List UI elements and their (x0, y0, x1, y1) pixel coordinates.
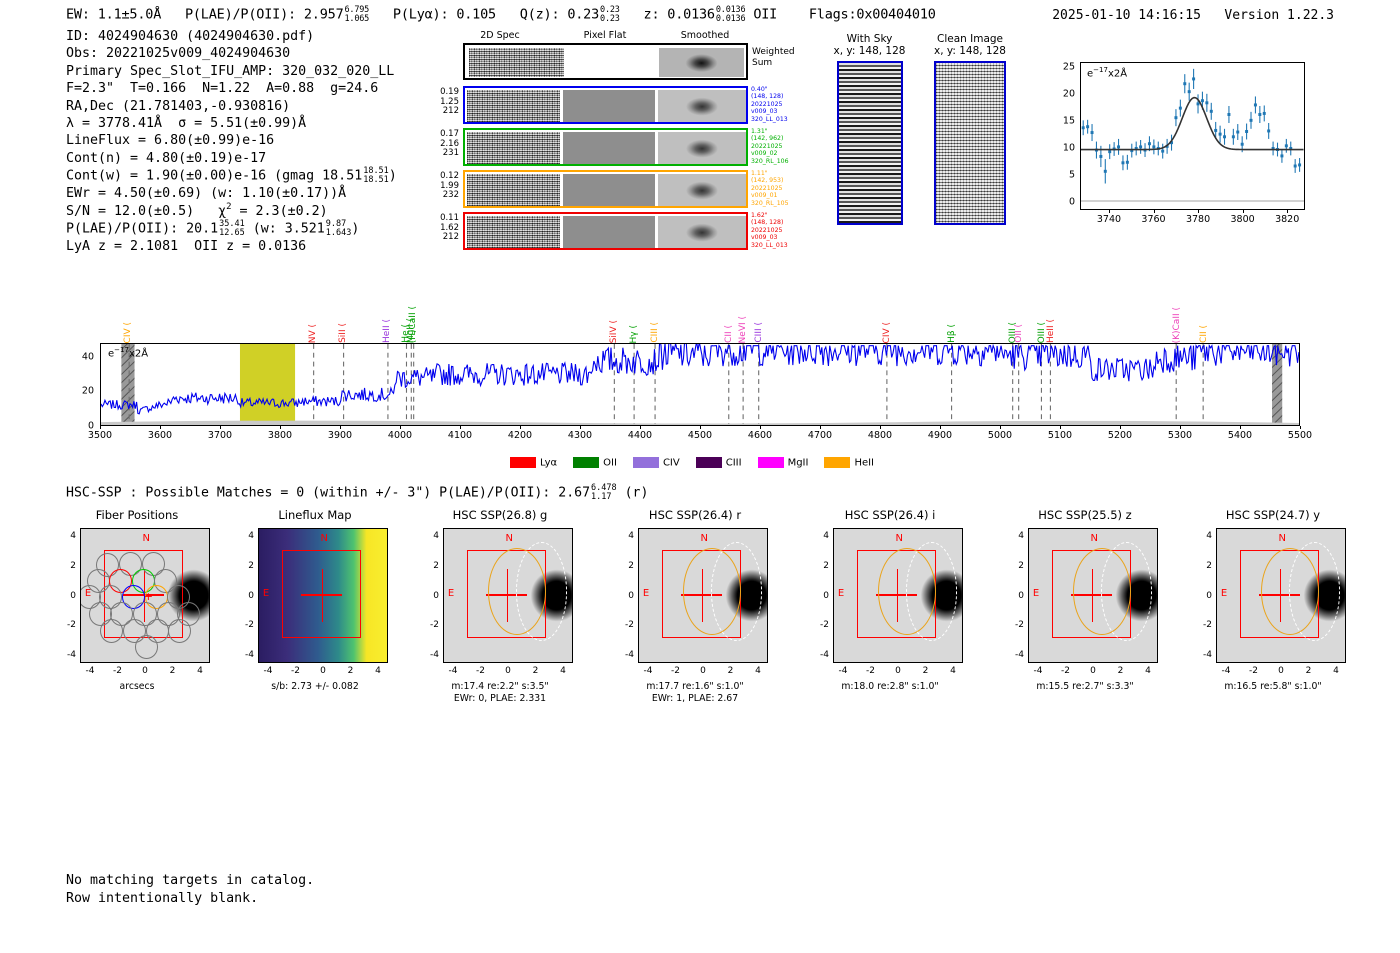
spec2d-fiber-row (463, 128, 748, 166)
east-label: E (448, 588, 454, 599)
spectrum-x-tickmark (940, 426, 941, 429)
header-z-species: OII (753, 7, 777, 23)
fiber-metric: 232 (425, 191, 459, 201)
info-cont-n: Cont(n) = 4.80(±0.19)e-17 (66, 150, 397, 167)
cutout-x-tick: -4 (86, 666, 95, 676)
north-label: N (700, 533, 707, 544)
cutout-x-tick: -4 (644, 666, 653, 676)
cutout-caption: m:17.7 re:1.6" s:1.0"EWr: 1, PLAE: 2.67 (620, 681, 770, 705)
version-label: Version 1.22.3 (1224, 8, 1334, 23)
info-id: ID: 4024904630 (4024904630.pdf) (66, 28, 397, 45)
spectrum-x-tick: 5000 (988, 430, 1012, 441)
emission-line-label: (H)CaII ( (408, 306, 418, 343)
cutout-y-tick: -2 (238, 620, 254, 630)
info-lineflux: LineFlux = 6.80(±0.99)e-16 (66, 132, 397, 149)
cutout-y-tick: -2 (1196, 620, 1212, 630)
cutout-caption-line1: m:17.7 re:1.6" s:1.0" (620, 681, 770, 693)
cutout-y-tick: 2 (60, 561, 76, 571)
spectrum-x-tick: 5400 (1228, 430, 1252, 441)
spectrum-x-tickmark (280, 426, 281, 429)
spectrum-x-tick: 4300 (568, 430, 592, 441)
cutout-title: HSC SSP(26.8) g (425, 508, 575, 522)
spectrum-x-tick: 4400 (628, 430, 652, 441)
cutout-y-tick: 2 (618, 561, 634, 571)
cutout-x-tick: -2 (866, 666, 875, 676)
clean-image-xy: x, y: 148, 128 (920, 45, 1020, 57)
header-qz: Q(z): 0.23 (520, 7, 599, 23)
east-label: E (263, 588, 269, 599)
legend-item: CIV (633, 457, 680, 469)
footer-notes: No matching targets in catalog. Row inte… (66, 872, 314, 907)
fiber-meta-line: (148, 128) (751, 93, 813, 100)
north-label: N (895, 533, 902, 544)
cutout-y-tick: -2 (423, 620, 439, 630)
info-sn-chi2: S/N = 12.0(±0.5) χ2 = 2.3(±0.2) (66, 203, 397, 220)
cutout-panel: HSC SSP(26.8) gNE420-2-4-4-2024m:17.4 re… (425, 508, 575, 733)
cutout-image-area: NE (1216, 528, 1346, 663)
spectrum-legend: LyαOIICIVCIIIMgIIHeII (100, 450, 1300, 469)
north-label: N (505, 533, 512, 544)
spectrum-x-tick: 5500 (1288, 430, 1312, 441)
fiber-meta-line: v009_03 (751, 234, 813, 241)
spec2d-fiber-rows: 0.191.252120.40"(148, 128)20221025v009_0… (455, 86, 815, 256)
cutout-x-tick: -2 (291, 666, 300, 676)
spectrum-x-tick: 4800 (868, 430, 892, 441)
spectrum-x-tick: 3600 (148, 430, 172, 441)
header-plya: P(Lyα): 0.105 (393, 7, 496, 23)
fiber-row-meta: 1.62"(148, 128)20221025v009_03320_LL_013 (751, 212, 813, 249)
emission-line-label: SiII ( (338, 323, 348, 343)
cutout-y-tick: 4 (60, 531, 76, 541)
emission-line-fit-chart: e−17x2Å 374037603780380038200510152025 (1035, 58, 1310, 243)
emission-line-label: SiIV ( (609, 320, 619, 343)
fit-x-tick: 3740 (1097, 214, 1121, 225)
cutout-y-tick: -4 (1196, 650, 1212, 660)
cutout-y-tick: 0 (1008, 591, 1024, 601)
fiber-2dspec-image (467, 132, 560, 164)
cutout-caption-line1: arcsecs (62, 681, 212, 693)
fit-y-tick: 15 (1057, 116, 1075, 127)
cutout-caption-line1: m:18.0 re:2.8" s:1.0" (815, 681, 965, 693)
clean-image-image (934, 61, 1006, 225)
fiber-meta-line: 320_RL_105 (751, 200, 813, 207)
hsc-summary-line: HSC-SSP : Possible Matches = 0 (within +… (66, 484, 648, 501)
fiber-pixelflat-image (563, 132, 655, 164)
cutout-image-area: NE (833, 528, 963, 663)
north-label: N (1090, 533, 1097, 544)
hsc-summary-text: HSC-SSP : Possible Matches = 0 (within +… (66, 486, 590, 501)
spectrum-x-tick: 3700 (208, 430, 232, 441)
spectrum-units-label: e−17x2Å (108, 346, 148, 359)
spectrum-x-tickmark (1120, 426, 1121, 429)
legend-swatch (573, 457, 599, 468)
cutout-image-area: NE (443, 528, 573, 663)
spectrum-x-tickmark (760, 426, 761, 429)
cutout-y-tick: 0 (423, 591, 439, 601)
footer-line-1: No matching targets in catalog. (66, 872, 314, 890)
cutout-x-tick: 2 (923, 666, 929, 676)
spectrum-x-tick: 4000 (388, 430, 412, 441)
header-plae-poii-range: 6.7951.065 (345, 6, 370, 23)
fiber-row-meta: 1.11"(142, 953)20221025v009_01320_RL_105 (751, 170, 813, 207)
header-ew: EW: 1.1±5.0Å (66, 7, 161, 23)
legend-swatch (758, 457, 784, 468)
header-plae-poii-value: 2.957 (304, 7, 344, 23)
fit-x-tickmark (1287, 210, 1288, 213)
legend-label: MgII (788, 457, 809, 468)
emission-line-label: HeII ( (1046, 319, 1056, 343)
legend-item: Lyα (510, 457, 557, 469)
header-timestamp-version: 2025-01-10 14:16:15 Version 1.22.3 (1052, 8, 1334, 23)
north-label: N (320, 533, 327, 544)
info-radec: RA,Dec (21.781403,-0.930816) (66, 98, 397, 115)
timestamp: 2025-01-10 14:16:15 (1052, 8, 1201, 23)
fiber-pixelflat-image (563, 216, 655, 248)
legend-swatch (824, 457, 850, 468)
spec2d-fiber-row (463, 212, 748, 250)
spec2d-col-title-pixelflat: Pixel Flat (560, 30, 650, 41)
emission-line-label: CIV ( (123, 322, 133, 343)
emission-line-label: CIII ( (754, 322, 764, 343)
fit-y-tick: 5 (1057, 170, 1075, 181)
spectrum-y-tick: 40 (74, 351, 94, 362)
weighted-sum-label: Weighted Sum (752, 47, 795, 69)
cutout-panel: HSC SSP(26.4) iNE420-2-4-4-2024m:18.0 re… (815, 508, 965, 733)
spectrum-x-tickmark (1240, 426, 1241, 429)
fit-x-tickmark (1109, 210, 1110, 213)
east-label: E (838, 588, 844, 599)
cutout-y-tick: 4 (1008, 531, 1024, 541)
fiber-meta-line: 320_RL_106 (751, 158, 813, 165)
header-plae-poii-label: P(LAE)/P(OII): (185, 7, 296, 23)
header-flags: Flags:0x00404010 (809, 7, 936, 23)
fiber-row-meta: 1.31"(142, 962)20221025v009_02320_RL_106 (751, 128, 813, 165)
spec2d-fiber-row (463, 86, 748, 124)
fiber-metric: 212 (425, 233, 459, 243)
spectrum-x-tick: 3500 (88, 430, 112, 441)
fit-x-tick: 3780 (1186, 214, 1210, 225)
legend-item: MgII (758, 457, 809, 469)
aperture-ellipse-dashed (1289, 542, 1340, 640)
hsc-summary-band: (r) (625, 486, 649, 501)
fiber-smoothed-image (658, 216, 746, 248)
cutout-y-tick: 0 (813, 591, 829, 601)
cutout-title: Fiber Positions (62, 508, 212, 522)
cutout-x-tick: 0 (142, 666, 148, 676)
east-label: E (643, 588, 649, 599)
spectrum-x-tickmark (580, 426, 581, 429)
info-ewr: EWr = 4.50(±0.69) (w: 1.10(±0.17))Å (66, 185, 397, 202)
cutout-x-tick: -2 (671, 666, 680, 676)
cutout-panel: HSC SSP(24.7) yNE420-2-4-4-2024m:16.5 re… (1198, 508, 1348, 733)
fit-x-tickmark (1198, 210, 1199, 213)
fiber-2dspec-image (467, 174, 560, 206)
cutout-y-tick: -2 (60, 620, 76, 630)
cutout-x-tick: -2 (476, 666, 485, 676)
spectrum-svg (101, 344, 1299, 425)
fiber-smoothed-image (658, 132, 746, 164)
cutout-caption-line1: m:16.5 re:5.8" s:1.0" (1198, 681, 1348, 693)
cutout-y-tick: -2 (618, 620, 634, 630)
fiber-meta-line: 20221025 (751, 101, 813, 108)
fiber-meta-line: 20221025 (751, 185, 813, 192)
spectrum-x-tick: 3800 (268, 430, 292, 441)
cutout-title: HSC SSP(24.7) y (1198, 508, 1348, 522)
fiber-smoothed-image (658, 174, 746, 206)
center-crosshair-h (301, 594, 342, 596)
north-label: N (1278, 533, 1285, 544)
spectrum-x-tickmark (1180, 426, 1181, 429)
cutout-panel: HSC SSP(25.5) zNE420-2-4-4-2024m:15.5 re… (1010, 508, 1160, 733)
legend-item: OII (573, 457, 617, 469)
fiber-metric: 231 (425, 149, 459, 159)
cutout-x-tick: 4 (1145, 666, 1151, 676)
legend-label: Lyα (540, 457, 557, 468)
cutout-y-tick: 0 (60, 591, 76, 601)
fit-x-tick: 3760 (1141, 214, 1165, 225)
emission-line-label: NeVI ( (738, 316, 748, 343)
legend-label: CIV (663, 457, 680, 468)
fiber-metric: 212 (425, 107, 459, 117)
fit-x-tick: 3820 (1275, 214, 1299, 225)
cutout-x-tick: 4 (755, 666, 761, 676)
cutout-x-tick: -4 (449, 666, 458, 676)
cutout-y-tick: -4 (1008, 650, 1024, 660)
emission-line-label: CII ( (1199, 325, 1209, 343)
cutout-title: Lineflux Map (240, 508, 390, 522)
fiber-2dspec-image (467, 90, 560, 122)
fiber-meta-line: 320_LL_013 (751, 242, 813, 249)
cutout-y-tick: -4 (60, 650, 76, 660)
north-label: N (142, 533, 149, 544)
fiber-pixelflat-image (563, 174, 655, 206)
target-marker: + (144, 593, 153, 601)
cutout-row: Fiber PositionsNE+420-2-4-4-2024arcsecsL… (0, 508, 1400, 738)
cutout-x-tick: 0 (895, 666, 901, 676)
cutout-x-tick: -4 (264, 666, 273, 676)
cutout-x-tick: -4 (839, 666, 848, 676)
cutout-y-tick: -4 (238, 650, 254, 660)
emission-line-label: NV ( (308, 324, 318, 343)
fit-x-tick: 3800 (1231, 214, 1255, 225)
cutout-caption-line2: EWr: 0, PLAE: 2.331 (425, 693, 575, 705)
legend-item: HeII (824, 457, 874, 469)
cutout-caption-line1: m:15.5 re:2.7" s:3.3" (1010, 681, 1160, 693)
fiber-meta-line: 1.31" (751, 128, 813, 135)
fiber-meta-line: 0.40" (751, 86, 813, 93)
fit-x-tickmark (1154, 210, 1155, 213)
spectrum-y-tick: 20 (74, 386, 94, 397)
fiber-meta-line: 20221025 (751, 143, 813, 150)
cutout-y-tick: 0 (1196, 591, 1212, 601)
clean-image-panel: Clean Image x, y: 148, 128 (920, 33, 1020, 225)
clean-image-title: Clean Image (920, 33, 1020, 45)
legend-swatch (510, 457, 536, 468)
cutout-caption-line1: m:17.4 re:2.2" s:3.5" (425, 681, 575, 693)
cutout-panel: Lineflux MapNE420-2-4-4-2024s/b: 2.73 +/… (240, 508, 390, 733)
cutout-x-tick: 0 (700, 666, 706, 676)
fiber-row-metrics: 0.191.25212 (425, 88, 459, 117)
legend-swatch (633, 457, 659, 468)
emission-line-label: (K)CaII ( (1172, 307, 1182, 343)
header-z-range: 0.01360.0136 (716, 6, 746, 23)
cutout-x-tick: 2 (1306, 666, 1312, 676)
cutout-caption-line1: s/b: 2.73 +/- 0.082 (240, 681, 390, 693)
fiber-meta-line: v009_03 (751, 108, 813, 115)
header-qz-range: 0.230.23 (600, 6, 620, 23)
cutout-x-tick: 0 (1090, 666, 1096, 676)
cutout-y-tick: 0 (618, 591, 634, 601)
spectrum-x-tick: 3900 (328, 430, 352, 441)
cutout-caption: m:18.0 re:2.8" s:1.0" (815, 681, 965, 693)
cutout-y-tick: 0 (238, 591, 254, 601)
emission-line-label: OII ( (1014, 324, 1024, 343)
spectrum-plot-area (100, 343, 1300, 426)
cutout-title: HSC SSP(26.4) r (620, 508, 770, 522)
east-label: E (1221, 588, 1227, 599)
cutout-x-tick: -2 (1249, 666, 1258, 676)
cutout-x-tick: 4 (950, 666, 956, 676)
spectrum-x-tickmark (460, 426, 461, 429)
spectrum-x-tickmark (1300, 426, 1301, 429)
spectrum-x-tick: 5300 (1168, 430, 1192, 441)
cutout-caption: arcsecs (62, 681, 212, 693)
legend-label: OII (603, 457, 617, 468)
fiber-smoothed-image (658, 90, 746, 122)
info-seeing-params: F=2.3" T=0.166 N=1.22 A=0.88 g=24.6 (66, 80, 397, 97)
cutout-caption-line2: EWr: 1, PLAE: 2.67 (620, 693, 770, 705)
fiber-meta-line: 320_LL_013 (751, 116, 813, 123)
fit-y-tick: 10 (1057, 143, 1075, 154)
cutout-y-tick: 4 (813, 531, 829, 541)
cutout-x-tick: 4 (1333, 666, 1339, 676)
aperture-ellipse-dashed (711, 542, 762, 640)
footer-line-2: Row intentionally blank. (66, 890, 314, 908)
cutout-y-tick: 2 (1008, 561, 1024, 571)
spectrum-x-tickmark (400, 426, 401, 429)
fiber-circle (135, 635, 158, 659)
emission-line-label: CIII ( (650, 322, 660, 343)
aperture-ellipse-dashed (906, 542, 957, 640)
legend-swatch (696, 457, 722, 468)
spectrum-x-tickmark (1000, 426, 1001, 429)
spec2d-panel: 2D Spec Pixel Flat Smoothed Weighted Sum… (455, 30, 815, 255)
spectrum-x-tick: 4200 (508, 430, 532, 441)
cutout-y-tick: 2 (1196, 561, 1212, 571)
fiber-meta-line: (148, 128) (751, 219, 813, 226)
cutout-x-tick: 2 (170, 666, 176, 676)
spectrum-x-tick: 4100 (448, 430, 472, 441)
spectrum-x-tickmark (880, 426, 881, 429)
weighted-sum-row (463, 43, 748, 80)
legend-label: CIII (726, 457, 742, 468)
info-primary-spec-slot: Primary Spec_Slot_IFU_AMP: 320_032_020_L… (66, 63, 397, 80)
fit-x-tickmark (1243, 210, 1244, 213)
cutout-x-tick: 4 (197, 666, 203, 676)
fit-y-tick: 0 (1057, 196, 1075, 207)
cutout-x-tick: -2 (1061, 666, 1070, 676)
cutout-x-tick: -2 (113, 666, 122, 676)
cutout-y-tick: 4 (423, 531, 439, 541)
with-sky-xy: x, y: 148, 128 (822, 45, 917, 57)
cutout-x-tick: 2 (533, 666, 539, 676)
header-summary-line: EW: 1.1±5.0Å P(LAE)/P(OII): 2.9576.7951.… (66, 6, 936, 23)
cutout-x-tick: -4 (1034, 666, 1043, 676)
cutout-y-tick: -4 (618, 650, 634, 660)
cutout-y-tick: -4 (813, 650, 829, 660)
cutout-image-area: NE+ (80, 528, 210, 663)
emission-line-label: Hβ ( (947, 324, 957, 343)
info-cont-w: Cont(w) = 1.90(±0.00)e-16 (gmag 18.5118.… (66, 167, 397, 185)
emission-line-label: Hγ ( (629, 325, 639, 343)
cutout-x-tick: -4 (1222, 666, 1231, 676)
aperture-ellipse-dashed (1101, 542, 1152, 640)
spectrum-x-tick: 4700 (808, 430, 832, 441)
legend-item: CIII (696, 457, 742, 469)
emission-line-label: CIV ( (882, 322, 892, 343)
spectrum-x-tick: 5100 (1048, 430, 1072, 441)
cutout-image-area: NE (1028, 528, 1158, 663)
spec2d-col-title-2dspec: 2D Spec (455, 30, 545, 41)
info-obs: Obs: 20221025v009_4024904630 (66, 45, 397, 62)
with-sky-title: With Sky (822, 33, 917, 45)
spectrum-x-tick: 4900 (928, 430, 952, 441)
aperture-ellipse-dashed (516, 542, 567, 640)
emission-line-labels: CIV (NV (SiII (HeII (He (MgII ((H)CaII (… (100, 260, 1300, 343)
cutout-y-tick: -2 (813, 620, 829, 630)
cutout-x-tick: 2 (728, 666, 734, 676)
cutout-title: HSC SSP(25.5) z (1010, 508, 1160, 522)
spectrum-x-tickmark (220, 426, 221, 429)
spectrum-x-tickmark (700, 426, 701, 429)
fiber-row-meta: 0.40"(148, 128)20221025v009_03320_LL_013 (751, 86, 813, 123)
spectrum-y-tick: 0 (74, 421, 94, 432)
spectrum-x-tick: 5200 (1108, 430, 1132, 441)
cutout-caption: s/b: 2.73 +/- 0.082 (240, 681, 390, 693)
cutout-y-tick: 4 (618, 531, 634, 541)
spectrum-x-tickmark (100, 426, 101, 429)
spectrum-x-tick: 4500 (688, 430, 712, 441)
fiber-meta-line: 20221025 (751, 227, 813, 234)
weighted-sum-2dspec-image (469, 48, 564, 77)
cutout-caption: m:16.5 re:5.8" s:1.0" (1198, 681, 1348, 693)
spec2d-fiber-row (463, 170, 748, 208)
cutout-image-area: NE (638, 528, 768, 663)
cutout-y-tick: 2 (813, 561, 829, 571)
cutout-y-tick: -2 (1008, 620, 1024, 630)
cutout-caption: m:17.4 re:2.2" s:3.5"EWr: 0, PLAE: 2.331 (425, 681, 575, 705)
fiber-row-metrics: 0.172.16231 (425, 130, 459, 159)
fiber-meta-line: v009_01 (751, 192, 813, 199)
spec2d-col-title-smoothed: Smoothed (660, 30, 750, 41)
fiber-pixelflat-image (563, 90, 655, 122)
cutout-panel: Fiber PositionsNE+420-2-4-4-2024arcsecs (62, 508, 212, 733)
fit-y-tick: 20 (1057, 89, 1075, 100)
spectrum-x-tickmark (820, 426, 821, 429)
spectrum-x-tickmark (520, 426, 521, 429)
legend-label: HeII (854, 457, 874, 468)
cutout-image-area: NE (258, 528, 388, 663)
spectrum-x-tick: 4600 (748, 430, 772, 441)
cutout-x-tick: 4 (560, 666, 566, 676)
fiber-meta-line: (142, 953) (751, 177, 813, 184)
fit-units-label: e−17x2Å (1087, 66, 1127, 79)
fiber-2dspec-image (467, 216, 560, 248)
cutout-x-tick: 2 (348, 666, 354, 676)
emission-line-label: HeII ( (382, 319, 392, 343)
info-wavelength-sigma: λ = 3778.41Å σ = 5.51(±0.99)Å (66, 115, 397, 132)
fiber-meta-line: v009_02 (751, 150, 813, 157)
